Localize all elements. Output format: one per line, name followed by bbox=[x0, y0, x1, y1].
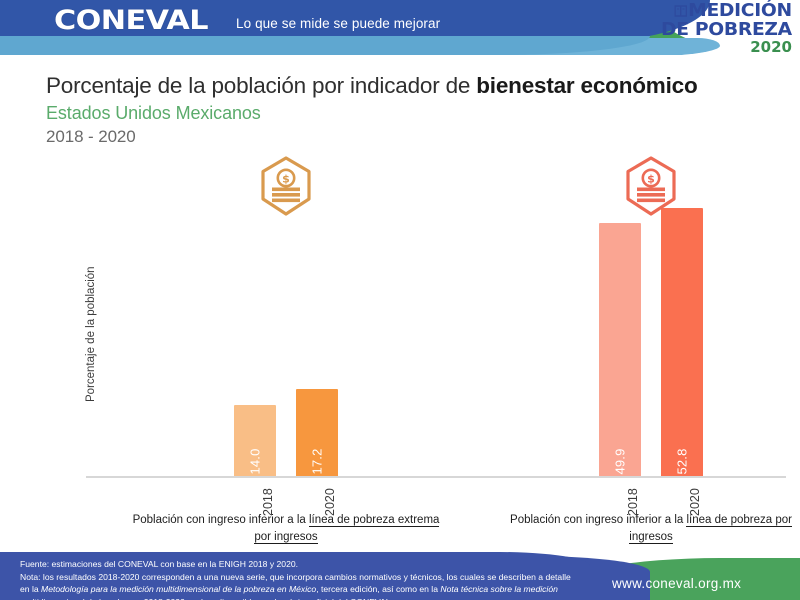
page-title-prefix: Porcentaje de la población por indicador… bbox=[46, 73, 476, 98]
book-icon bbox=[675, 5, 687, 17]
footer-note-p2: , tercera edición, así como en la bbox=[316, 584, 440, 594]
y-axis-label: Porcentaje de la población bbox=[85, 266, 97, 402]
caption-underlined-2: por ingresos bbox=[254, 531, 317, 544]
bar-value-label: 17.2 bbox=[310, 448, 325, 474]
bar-chart: Porcentaje de la población 0.010.020.030… bbox=[86, 172, 786, 476]
header-tagline: Lo que se mide se puede mejorar bbox=[236, 16, 440, 31]
money-stack-hexagon-icon: $ bbox=[623, 156, 679, 218]
svg-text:$: $ bbox=[282, 173, 290, 186]
coneval-logo[interactable]: CONEVAL bbox=[54, 5, 208, 36]
page-period: 2018 - 2020 bbox=[46, 127, 136, 147]
bar-value-label: 14.0 bbox=[248, 448, 263, 474]
caption-plain: Población con ingreso inferior a la bbox=[510, 514, 686, 526]
brand-line-1-text: MEDICIÓN bbox=[688, 0, 792, 21]
bar-value-label: 52.8 bbox=[675, 448, 690, 474]
page-subtitle: Estados Unidos Mexicanos bbox=[46, 103, 261, 124]
footer-notes: Fuente: estimaciones del CONEVAL con bas… bbox=[20, 558, 580, 600]
footer-note-line: Nota: los resultados 2018-2020 correspon… bbox=[20, 571, 580, 600]
caption-underlined: línea de pobreza extrema bbox=[309, 514, 439, 527]
bar-2020-group-0[interactable]: 17.2 bbox=[296, 389, 338, 476]
svg-text:$: $ bbox=[647, 173, 655, 186]
group-caption-0: Población con ingreso inferior a la líne… bbox=[116, 512, 456, 547]
x-axis-line bbox=[86, 476, 786, 478]
brand-line-1: MEDICIÓN bbox=[661, 2, 792, 20]
page-title: Porcentaje de la población por indicador… bbox=[46, 73, 786, 99]
brand-year: 2020 bbox=[666, 40, 792, 55]
bar-2020-group-1[interactable]: 52.8 bbox=[661, 208, 703, 476]
caption-underlined-2: ingresos bbox=[629, 531, 672, 544]
footer-source-line: Fuente: estimaciones del CONEVAL con bas… bbox=[20, 558, 580, 571]
medicion-pobreza-brand: MEDICIÓN DE POBREZA 2020 bbox=[666, 2, 792, 55]
page-title-emphasis: bienestar económico bbox=[476, 73, 697, 98]
page-header: CONEVAL Lo que se mide se puede mejorar … bbox=[0, 0, 800, 55]
caption-plain: Población con ingreso inferior a la bbox=[133, 514, 309, 526]
brand-line-2: DE POBREZA bbox=[661, 21, 792, 39]
group-caption-1: Población con ingreso inferior a la líne… bbox=[481, 512, 800, 547]
bar-2018-group-0[interactable]: 14.0 bbox=[234, 405, 276, 476]
footer-note-i1: Metodología para la medición multidimens… bbox=[41, 584, 316, 594]
bar-2018-group-1[interactable]: 49.9 bbox=[599, 223, 641, 476]
bar-value-label: 49.9 bbox=[613, 448, 628, 474]
page-footer: Fuente: estimaciones del CONEVAL con bas… bbox=[0, 552, 800, 600]
header-lightblue-band-2 bbox=[0, 36, 650, 55]
caption-underlined: línea de pobreza por bbox=[686, 514, 792, 527]
website-link[interactable]: www.coneval.org.mx bbox=[612, 576, 741, 591]
money-stack-hexagon-icon: $ bbox=[258, 156, 314, 218]
